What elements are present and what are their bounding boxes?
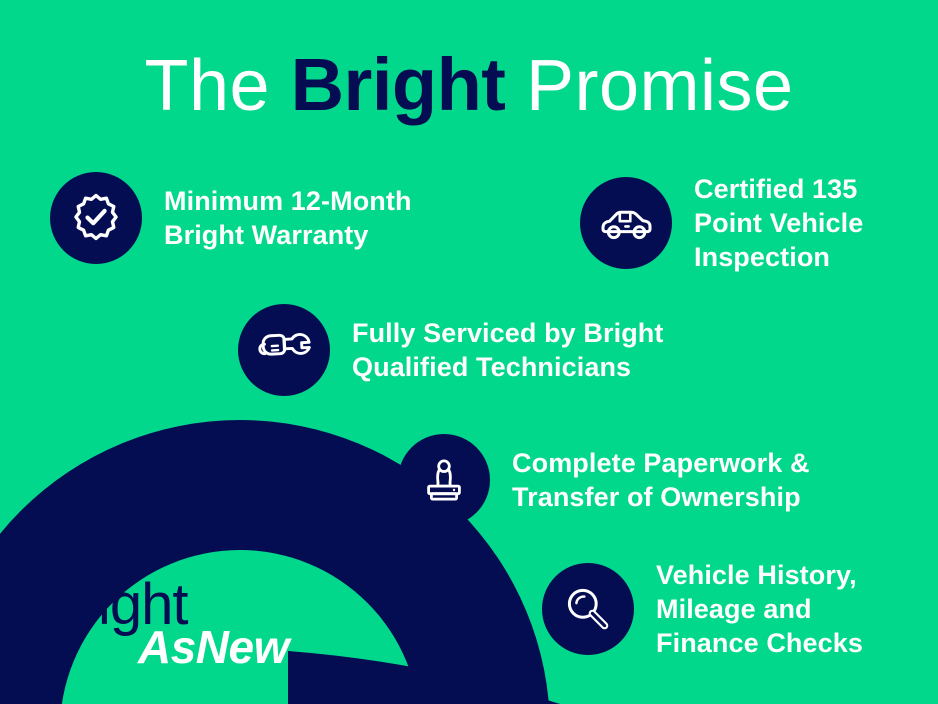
feature-icon-badge: [50, 172, 142, 264]
feature-label: Complete Paperwork & Transfer of Ownersh…: [512, 446, 810, 514]
feature-label: Vehicle History, Mileage and Finance Che…: [656, 558, 863, 660]
promise-banner: The Bright Promise Minimum 12-Month Brig…: [0, 0, 938, 704]
feature-icon-badge: [542, 563, 634, 655]
verified-badge-icon: [69, 191, 123, 245]
rubber-stamp-icon: [417, 453, 471, 507]
feature-icon-badge: [238, 304, 330, 396]
feature-item-warranty: Minimum 12-Month Bright Warranty: [50, 172, 412, 264]
feature-label: Minimum 12-Month Bright Warranty: [164, 184, 412, 252]
feature-item-checks: Vehicle History, Mileage and Finance Che…: [542, 558, 863, 660]
feature-item-servicing: Fully Serviced by Bright Qualified Techn…: [238, 304, 663, 396]
brand-logo: Bright AsNew: [42, 576, 302, 686]
logo-secondary-text: AsNew: [138, 624, 289, 670]
title-brand: Bright: [291, 43, 506, 126]
title-suffix: Promise: [505, 46, 793, 126]
feature-item-inspection: Certified 135 Point Vehicle Inspection: [580, 172, 863, 274]
feature-icon-badge: [398, 434, 490, 526]
hand-wrench-icon: [256, 322, 312, 378]
feature-item-paperwork: Complete Paperwork & Transfer of Ownersh…: [398, 434, 810, 526]
car-icon: [597, 194, 655, 252]
feature-icon-badge: [580, 177, 672, 269]
feature-label: Fully Serviced by Bright Qualified Techn…: [352, 316, 663, 384]
title-prefix: The: [145, 46, 291, 126]
magnifying-glass-icon: [560, 581, 616, 637]
feature-label: Certified 135 Point Vehicle Inspection: [694, 172, 863, 274]
page-title: The Bright Promise: [0, 42, 938, 129]
